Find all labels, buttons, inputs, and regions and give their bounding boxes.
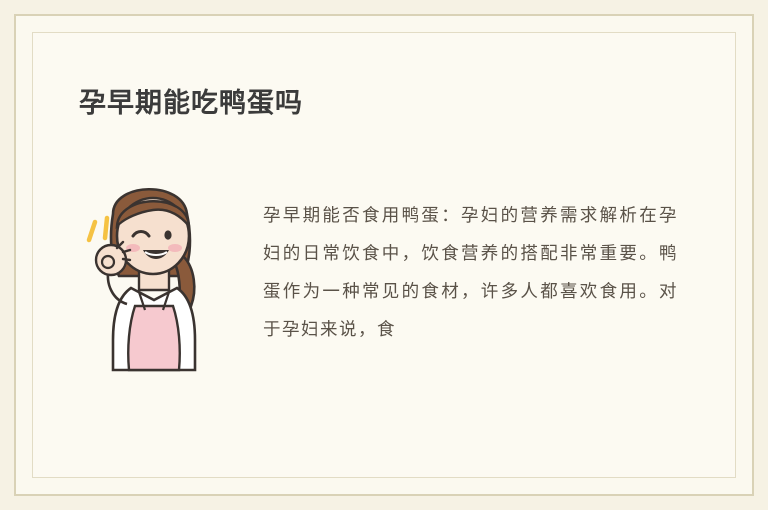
article-body-text: 孕早期能否食用鸭蛋：孕妇的营养需求解析在孕妇的日常饮食中，饮食营养的搭配非常重要… bbox=[263, 196, 678, 348]
page-title: 孕早期能吃鸭蛋吗 bbox=[79, 81, 303, 120]
document-page: 孕早期能吃鸭蛋吗 bbox=[0, 0, 768, 510]
pregnant-woman-ok-gesture-illustration bbox=[83, 164, 223, 374]
inner-frame-border: 孕早期能吃鸭蛋吗 bbox=[32, 32, 736, 478]
outer-frame-border: 孕早期能吃鸭蛋吗 bbox=[14, 14, 754, 496]
article-content: 孕早期能否食用鸭蛋：孕妇的营养需求解析在孕妇的日常饮食中，饮食营养的搭配非常重要… bbox=[73, 148, 705, 447]
